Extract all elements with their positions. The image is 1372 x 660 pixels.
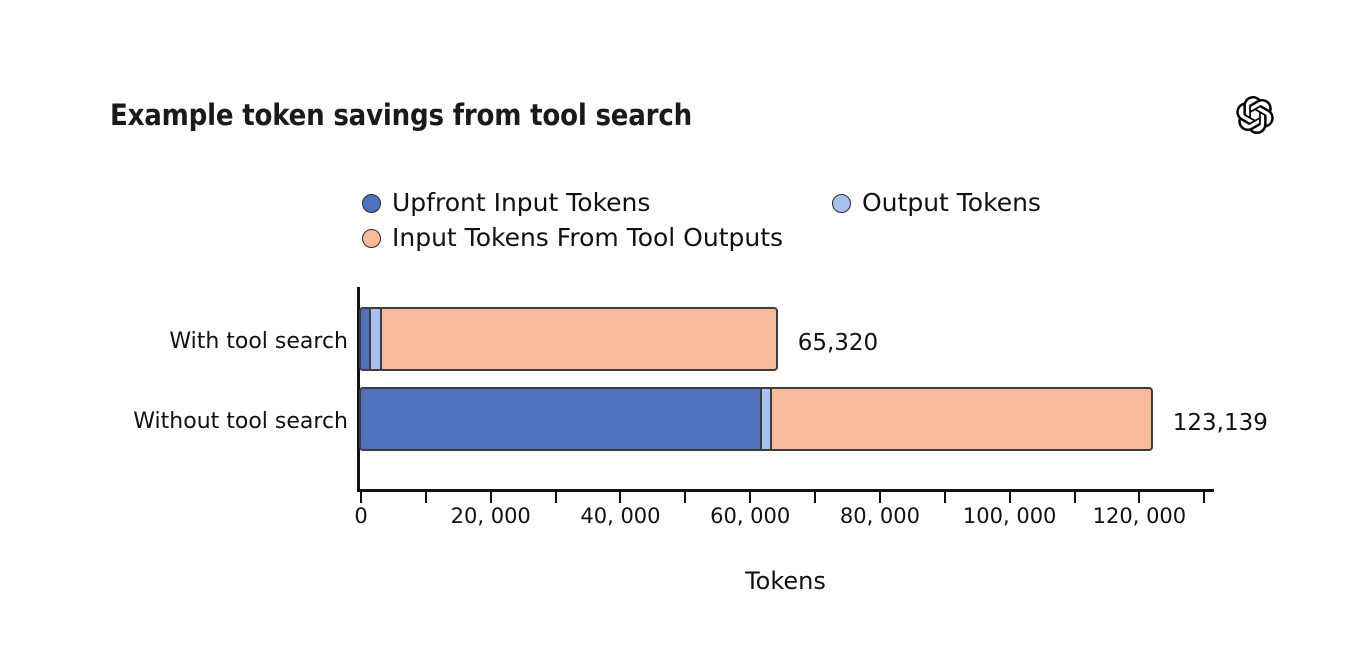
y-axis-category-label-without-tool-search: Without tool search [133,409,348,434]
bar-with-tool-search[interactable] [359,307,783,371]
x-axis-tick-label: 0 [354,504,367,528]
x-axis-minor-tick [684,492,686,503]
x-axis-tick-label: 100, 000 [963,504,1057,528]
x-axis-tick [1138,492,1140,503]
x-axis-minor-tick [425,492,427,503]
bar-total-label: 65,320 [798,330,878,356]
x-axis-tick [749,492,751,503]
x-axis-tick [879,492,881,503]
x-axis-title: Tokens [357,567,1214,595]
bar-segment[interactable] [359,387,762,451]
x-axis-minor-tick [555,492,557,503]
x-axis-tick-label: 40, 000 [580,504,660,528]
x-axis-tick-label: 120, 000 [1093,504,1187,528]
x-axis-minor-tick [1203,492,1205,503]
bar-without-tool-search[interactable] [359,387,1158,451]
bar-chart-plot: 020, 00040, 00060, 00080, 000100, 000120… [0,0,1372,660]
x-axis-minor-tick [1074,492,1076,503]
x-axis-tick-label: 60, 000 [710,504,790,528]
x-axis-tick-label: 20, 000 [451,504,531,528]
x-axis-minor-tick [944,492,946,503]
bar-segment[interactable] [770,387,1153,451]
x-axis-tick-label: 80, 000 [840,504,920,528]
x-axis-tick [490,492,492,503]
x-axis-tick [1009,492,1011,503]
x-axis-tick [360,492,362,503]
y-axis-category-label-with-tool-search: With tool search [169,329,348,354]
bar-total-label: 123,139 [1173,410,1268,436]
x-axis-minor-tick [814,492,816,503]
x-axis-tick [619,492,621,503]
x-axis-line [357,489,1214,492]
bar-segment[interactable] [380,307,779,371]
